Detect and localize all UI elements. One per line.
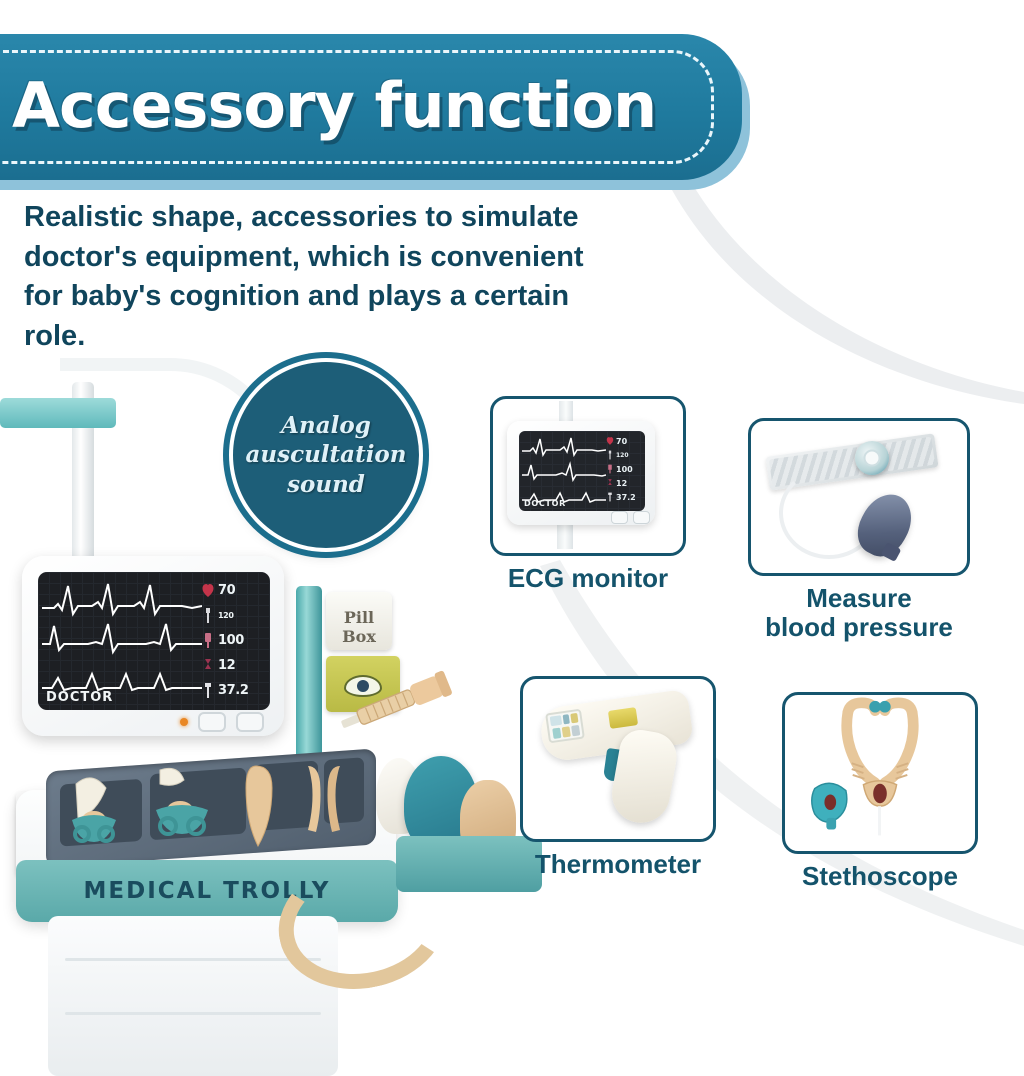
page-title: Accessory function xyxy=(12,69,656,142)
callout-thermometer[interactable]: Thermometer xyxy=(520,676,716,892)
badge-line-2: auscultation xyxy=(246,440,407,469)
analog-auscultation-badge: Analog auscultation sound xyxy=(233,362,419,548)
spo2-icon xyxy=(202,632,214,649)
vital-row-heart-rate: 70 xyxy=(202,578,264,603)
ecg-card-caption: ECG monitor xyxy=(508,564,668,593)
bp-gauge-face xyxy=(864,450,881,467)
ecg-vital-temperature: 37.2 xyxy=(606,490,642,504)
vital-heart-rate-value: 70 xyxy=(218,583,235,598)
bp-card-caption: Measure blood pressure xyxy=(744,584,974,642)
ecg-vital-blood-pressure: 120 xyxy=(606,448,642,462)
stetho-card-frame xyxy=(782,692,978,854)
badge-line-1: Analog xyxy=(246,411,407,440)
monitor-button-right[interactable] xyxy=(236,712,264,732)
pill-box-label: Pill Box xyxy=(326,608,392,646)
badge-text: Analog auscultation sound xyxy=(234,411,419,499)
ecg-respiration-value: 12 xyxy=(616,479,627,488)
monitor-button-left[interactable] xyxy=(198,712,226,732)
ecg-spo2-value: 100 xyxy=(616,465,633,474)
ecg-trace-2 xyxy=(42,618,202,658)
thermo-lcd-display xyxy=(608,707,638,729)
stethoscope-art xyxy=(785,695,975,851)
banner-body: Accessory function xyxy=(0,34,742,180)
callout-blood-pressure[interactable]: Measure blood pressure xyxy=(748,418,970,660)
lead-line-2: doctor's equipment, which is convenient xyxy=(24,238,664,278)
eye-pupil xyxy=(357,680,369,692)
vital-blood-pressure-value: 120 xyxy=(218,612,234,620)
vital-respiration-value: 12 xyxy=(218,658,235,673)
ecg-brand-label: DOCTOR xyxy=(524,499,566,508)
spo2-icon xyxy=(606,464,614,474)
green-tube-accessory xyxy=(296,586,322,766)
header-banner: Accessory function xyxy=(0,34,750,182)
vital-temperature-value: 37.2 xyxy=(218,683,248,698)
ecg-button-right[interactable] xyxy=(633,511,650,524)
thermometer-icon xyxy=(202,682,214,699)
stethoscope-chestpiece xyxy=(863,781,896,836)
bp-caption-line-2: blood pressure xyxy=(744,613,974,642)
respiration-icon xyxy=(202,657,214,674)
bp-caption-line-1: Measure xyxy=(744,584,974,613)
vital-row-blood-pressure: 120 xyxy=(202,603,264,628)
ecg-button-left[interactable] xyxy=(611,511,628,524)
callout-stethoscope[interactable]: Stethoscope xyxy=(782,692,978,910)
thermo-panel-graphic xyxy=(547,711,582,741)
cabinet-line-2 xyxy=(65,1012,320,1015)
thermometer-icon xyxy=(606,492,614,502)
ecg-card-art: 70 120 100 12 xyxy=(493,399,683,553)
ecg-heart-rate-value: 70 xyxy=(616,437,627,446)
pill-box: Pill Box xyxy=(326,592,392,650)
lead-line-4-text: role xyxy=(24,320,77,352)
monitor-power-led xyxy=(180,718,188,726)
monitor-screen: 70 120 100 12 37.2 DOC xyxy=(38,572,270,710)
lead-line-1: Realistic shape, accessories to simulate xyxy=(24,198,664,238)
vital-row-spo2: 100 xyxy=(202,628,264,653)
thermo-card-art xyxy=(523,679,713,839)
lead-period: . xyxy=(77,320,85,352)
scissors xyxy=(156,768,208,834)
lead-line-4: role. xyxy=(24,317,664,357)
callout-ecg-monitor[interactable]: 70 120 100 12 xyxy=(490,396,686,614)
bp-card-art xyxy=(751,421,967,573)
ecg-vital-spo2: 100 xyxy=(606,462,642,476)
ecg-trace-1 xyxy=(42,580,202,620)
lead-line-3: for baby's cognition and plays a certain xyxy=(24,277,664,317)
badge-line-3: sound xyxy=(246,470,407,499)
vital-row-respiration: 12 xyxy=(202,653,264,678)
thermo-card-frame xyxy=(520,676,716,842)
respiration-icon xyxy=(606,478,614,488)
vital-spo2-value: 100 xyxy=(218,633,244,648)
vital-row-temperature: 37.2 xyxy=(202,678,264,703)
bp-cuff-icon xyxy=(606,450,614,460)
monitor-vitals-panel: 70 120 100 12 37.2 xyxy=(202,578,264,703)
bp-cuff-icon xyxy=(202,607,214,624)
stethoscope-springs xyxy=(852,763,909,779)
ecg-mini-trace-1 xyxy=(522,436,606,458)
heart-icon xyxy=(606,436,614,446)
iv-pole-crossbar xyxy=(0,398,116,428)
cabinet-line-1 xyxy=(65,958,320,961)
bp-card-frame xyxy=(748,418,970,576)
scalpel xyxy=(72,778,116,842)
ecg-blood-pressure-value: 120 xyxy=(616,452,629,459)
tweezers xyxy=(308,766,340,832)
ecg-monitor-screen: 70 120 100 12 xyxy=(519,431,645,511)
monitor-brand-label: DOCTOR xyxy=(46,690,113,705)
ecg-mount-bottom xyxy=(557,523,573,549)
ecg-vital-heart-rate: 70 xyxy=(606,434,642,448)
tray-instruments xyxy=(52,758,382,864)
ecg-vitals-panel: 70 120 100 12 xyxy=(606,434,642,504)
thermo-card-caption: Thermometer xyxy=(535,850,701,879)
ecg-mini-trace-2 xyxy=(522,461,606,483)
tongue-depressor xyxy=(246,766,272,846)
poster-canvas: Accessory function Realistic shape, acce… xyxy=(0,0,1024,1024)
stetho-card-caption: Stethoscope xyxy=(802,862,958,891)
bp-gauge xyxy=(855,441,889,475)
ecg-card-frame: 70 120 100 12 xyxy=(490,396,686,556)
thermo-control-panel[interactable] xyxy=(545,709,585,744)
ecg-vital-respiration: 12 xyxy=(606,476,642,490)
lead-paragraph: Realistic shape, accessories to simulate… xyxy=(24,198,664,357)
eye-icon xyxy=(344,675,382,697)
ecg-temperature-value: 37.2 xyxy=(616,493,636,502)
heart-icon xyxy=(202,582,214,599)
stethoscope-teal-bell xyxy=(812,783,847,829)
